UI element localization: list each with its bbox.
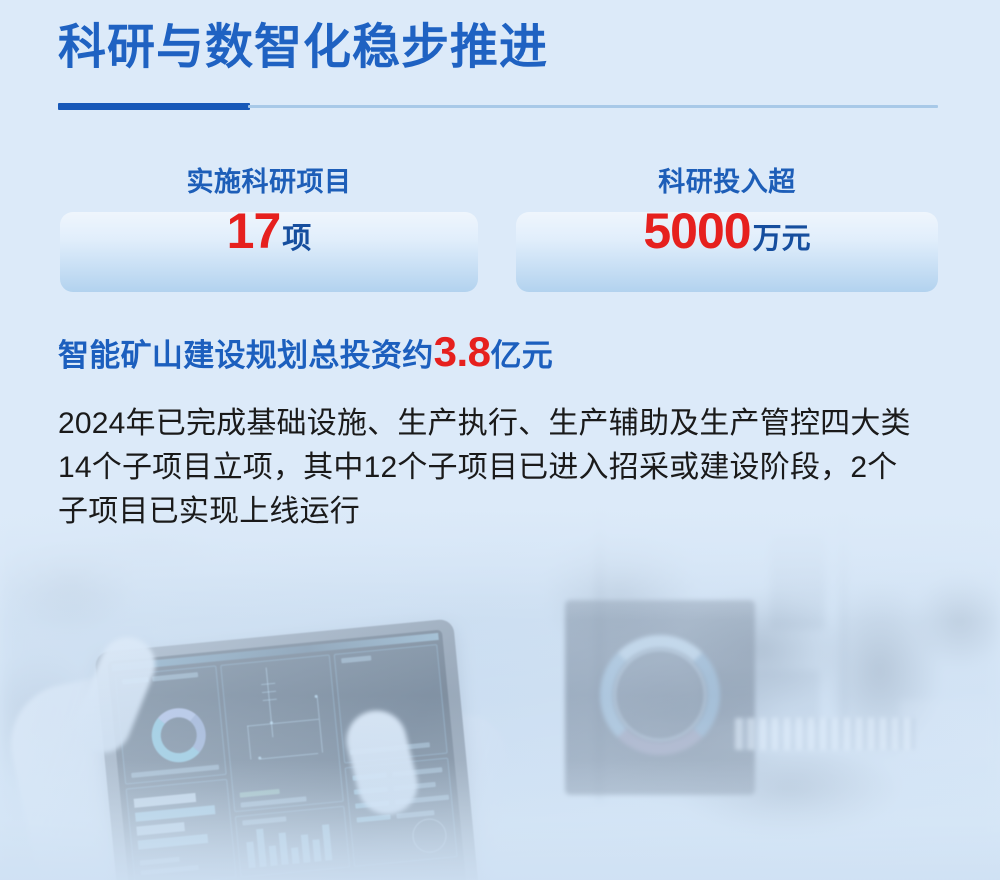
title-divider bbox=[58, 103, 938, 110]
stat-number: 5000 bbox=[643, 203, 750, 259]
stat-unit: 项 bbox=[282, 223, 311, 255]
stat-number: 17 bbox=[227, 203, 281, 259]
stat-item-research-investment: 科研投入超 5000万元 bbox=[516, 165, 938, 256]
subheadline-number: 3.8 bbox=[434, 328, 491, 375]
subheadline: 智能矿山建设规划总投资约3.8亿元 bbox=[58, 331, 553, 373]
stat-unit: 万元 bbox=[753, 223, 811, 255]
stat-item-research-projects: 实施科研项目 17项 bbox=[60, 165, 478, 256]
stat-value-row: 17项 bbox=[60, 206, 478, 256]
page-title: 科研与数智化稳步推进 bbox=[58, 24, 548, 72]
body-paragraph: 2024年已完成基础设施、生产执行、生产辅助及生产管控四大类14个子项目立项，其… bbox=[58, 402, 918, 534]
stat-label: 科研投入超 bbox=[516, 165, 938, 200]
divider-strong-segment bbox=[58, 103, 250, 110]
stat-value-row: 5000万元 bbox=[516, 206, 938, 256]
infographic-page: 科研与数智化稳步推进 实施科研项目 17项 科研投入超 5000万元 智能矿山建… bbox=[0, 0, 1000, 880]
stat-label: 实施科研项目 bbox=[60, 165, 478, 200]
subheadline-suffix: 亿元 bbox=[491, 338, 554, 373]
divider-light-segment bbox=[248, 105, 938, 108]
subheadline-prefix: 智能矿山建设规划总投资约 bbox=[58, 338, 434, 373]
